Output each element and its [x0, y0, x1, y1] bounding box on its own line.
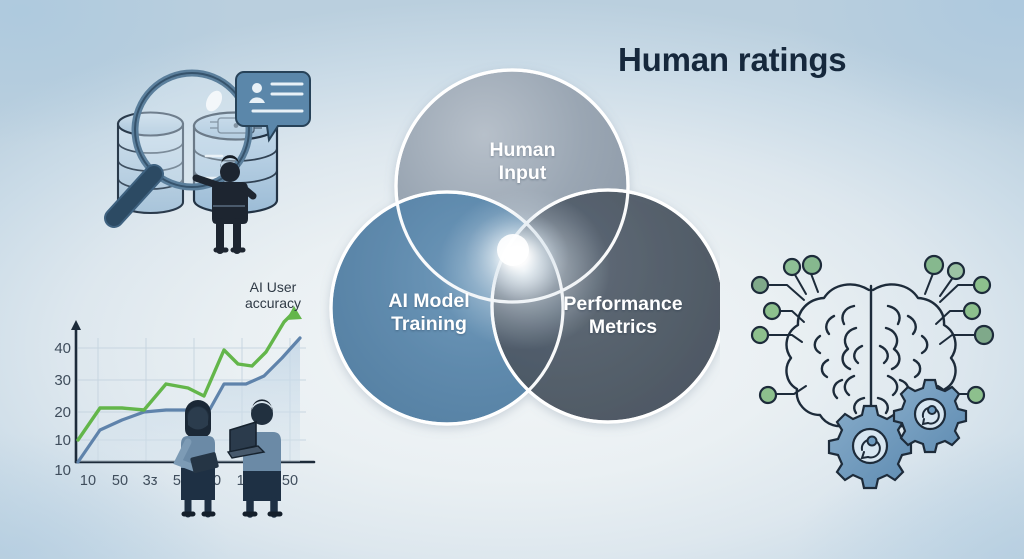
data-search-illustration: [48, 56, 338, 261]
chart-ytick-4: 10: [54, 462, 71, 479]
chart-xtick-0: 10: [80, 473, 96, 489]
chart-annotation-line2: accuracy: [245, 295, 301, 311]
gear-icon-small: [894, 380, 966, 452]
neural-node: [974, 277, 990, 293]
neural-node: [925, 256, 943, 274]
growth-chart-illustration: 40 30 20 10 10 10 50 3ᴣ 50 10 1ᴣ 9 50 AI…: [38, 280, 328, 515]
chart-ytick-1: 30: [54, 372, 71, 389]
neural-node: [948, 263, 964, 279]
chart-xtick-7: 50: [282, 473, 298, 489]
chart-ytick-0: 40: [54, 340, 71, 357]
infographic-canvas: Human ratings: [0, 0, 1024, 559]
neural-node: [964, 303, 980, 319]
chart-xtick-2: 3ᴣ: [143, 473, 158, 489]
brain-network-illustration: [742, 238, 1004, 490]
neural-node: [803, 256, 821, 274]
chart-axis-arrow: [71, 320, 81, 330]
chart-xtick-1: 50: [112, 473, 128, 489]
neural-node: [752, 327, 768, 343]
neural-node: [784, 259, 800, 275]
venn-diagram: Human Input AI Model Training Performanc…: [320, 58, 720, 462]
neural-node: [752, 277, 768, 293]
neural-node: [760, 387, 776, 403]
neural-node: [975, 326, 993, 344]
neural-node: [968, 387, 984, 403]
chart-ytick-2: 20: [54, 404, 71, 421]
chart-annotation-line1: AI User: [250, 279, 297, 295]
chart-ytick-3: 10: [54, 432, 71, 449]
neural-node: [764, 303, 780, 319]
